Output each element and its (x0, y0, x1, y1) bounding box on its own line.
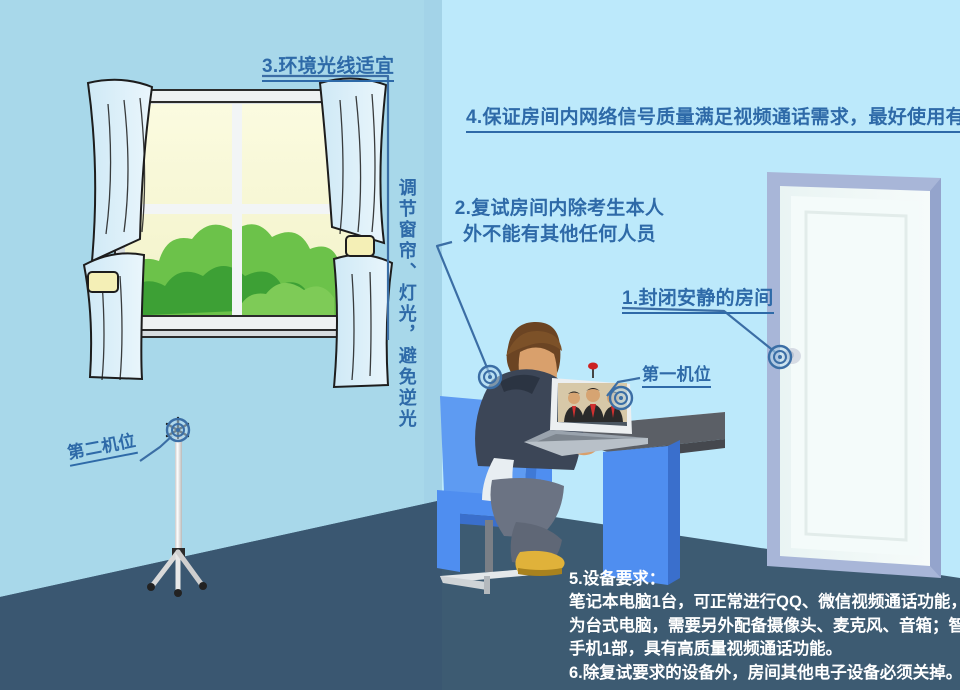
shoulder-camera-target (479, 366, 501, 388)
annotation-1-quiet-room: 1.封闭安静的房间 (622, 287, 774, 314)
annotation-4-network: 4.保证房间内网络信号质量满足视频通话需求，最好使用有线网络 (466, 106, 960, 133)
equipment-requirements-block: 5.设备要求： 笔记本电脑1台，可正常进行QQ、微信视频通话功能，若 为台式电脑… (569, 568, 960, 685)
annotation-3-lighting: 3.环境光线适宜 (262, 55, 394, 82)
annotation-2-no-other-people: 2.复试房间内除考生本人外不能有其他任何人员 (452, 196, 667, 247)
label-camera-position-1: 第一机位 (642, 364, 711, 388)
door (767, 172, 941, 578)
equipment-line-1: 5.设备要求： (569, 568, 960, 591)
illustration-canvas: 3.环境光线适宜 4.保证房间内网络信号质量满足视频通话需求，最好使用有线网络 … (0, 0, 960, 690)
equipment-line-3: 为台式电脑，需要另外配备摄像头、麦克风、音箱；智能 (569, 615, 960, 638)
window-mullion-h (125, 204, 353, 214)
curtain-tieback-right (346, 236, 374, 256)
tripod-camera-target (167, 419, 189, 441)
equipment-line-4: 手机1部，具有高质量视频通话功能。 (569, 638, 960, 661)
curtain-tieback-left (88, 272, 118, 292)
equipment-line-5: 6.除复试要求的设备外，房间其他电子设备必须关掉。 (569, 662, 960, 685)
door-target (769, 346, 791, 368)
laptop-webcam-target (610, 387, 632, 409)
equipment-line-2: 笔记本电脑1台，可正常进行QQ、微信视频通话功能，若 (569, 591, 960, 614)
annotation-vertical-curtain-light: 调节窗帘、灯光，避免逆光 (396, 178, 416, 430)
